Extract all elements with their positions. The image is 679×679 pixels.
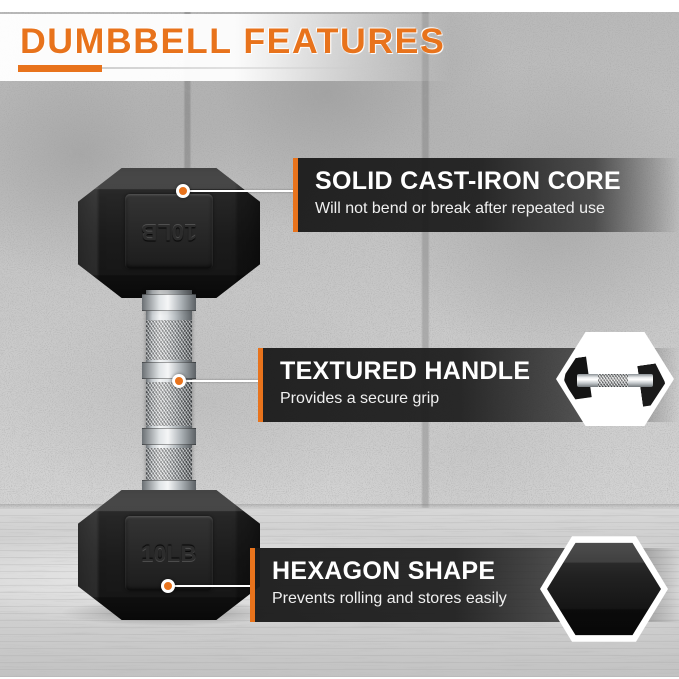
feature-subtitle-1: Will not bend or break after repeated us…: [315, 200, 605, 218]
marker-dot-hexagon-shape: [161, 579, 175, 593]
handle-collar-mid-upper: [142, 362, 196, 379]
infographic-canvas: DUMBBELL FEATURES 10LB 10LB: [0, 0, 679, 679]
top-white-frame: [0, 0, 679, 12]
marker-dot-textured-handle: [172, 374, 186, 388]
head-top-plate: 10LB: [125, 194, 212, 269]
handle-collar-mid-lower: [142, 428, 196, 445]
inset-handle-knurl-icon: [598, 374, 628, 387]
callout-accent-edge-3: [250, 548, 255, 622]
feature-callout-solid-cast-iron-core: SOLID CAST-IRON CORE Will not bend or br…: [293, 158, 679, 232]
title-underline-accent: [18, 65, 102, 72]
inset-hexagon-closeup: [540, 534, 668, 644]
handle-knurl-upper: [146, 320, 192, 360]
feature-title-3: HEXAGON SHAPE: [272, 557, 495, 586]
leader-line-2: [182, 380, 259, 382]
leader-line-3: [171, 585, 251, 587]
handle-knurl-lower: [146, 448, 192, 480]
feature-title-1: SOLID CAST-IRON CORE: [315, 167, 621, 196]
page-title: DUMBBELL FEATURES: [20, 22, 445, 62]
title-underline-thin: [102, 67, 432, 69]
feature-subtitle-3: Prevents rolling and stores easily: [272, 590, 507, 608]
feature-title-2: TEXTURED HANDLE: [280, 357, 530, 386]
marker-dot-solid-cast-iron-core: [176, 184, 190, 198]
inset-handle-closeup: [556, 330, 674, 428]
callout-accent-edge-2: [258, 348, 263, 422]
callout-accent-edge-1: [293, 158, 298, 232]
dumbbell-head-bottom: 10LB: [78, 490, 260, 620]
weight-label-bottom: 10LB: [125, 541, 212, 567]
dumbbell-product-image: 10LB 10LB: [78, 168, 260, 620]
dumbbell-head-top: 10LB: [78, 168, 260, 298]
feature-subtitle-2: Provides a secure grip: [280, 390, 439, 408]
dumbbell-handle: [146, 290, 192, 498]
handle-knurl-middle: [146, 382, 192, 426]
handle-collar-top: [142, 294, 196, 311]
leader-line-1: [186, 190, 294, 192]
weight-label-top: 10LB: [125, 219, 212, 245]
